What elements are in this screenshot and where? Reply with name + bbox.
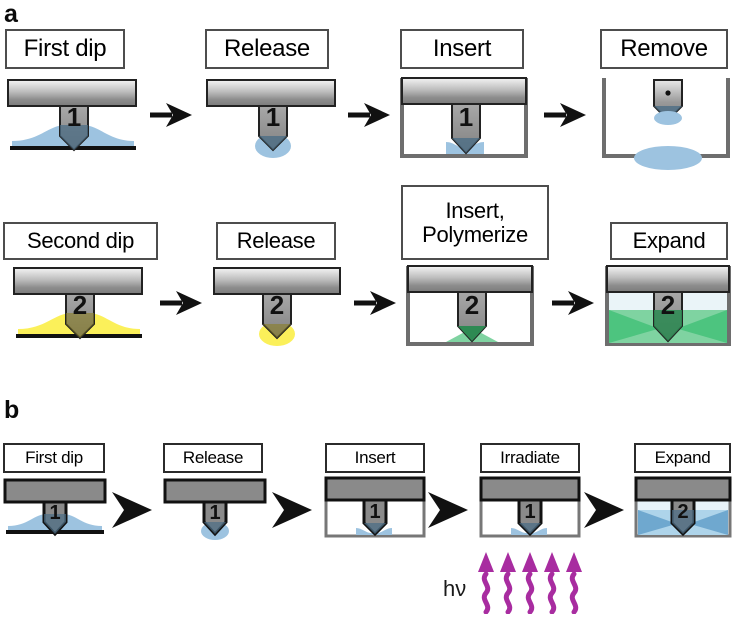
step-label-insert-a1: Insert xyxy=(400,29,524,69)
flow-arrow-a2-1 xyxy=(158,288,204,318)
scene-release-a1: 1 xyxy=(203,78,339,164)
step-label-text: Release xyxy=(237,229,316,252)
photon-energy-label: hν xyxy=(443,578,466,600)
step-label-text: Insert xyxy=(355,449,396,467)
stamp-number: 1 xyxy=(524,501,535,523)
scene-insert-polymerize-a2: 2 xyxy=(402,264,538,352)
stamp-number: 1 xyxy=(67,102,81,132)
step-label-insert-b: Insert xyxy=(325,443,425,473)
step-label-text: Insert, Polymerize xyxy=(422,199,528,245)
stamp-number: 1 xyxy=(49,502,60,524)
step-label-first-dip-a: First dip xyxy=(5,29,125,69)
photon-squiggle-arrow-wave xyxy=(484,574,575,612)
photon-squiggle-arrow-head xyxy=(478,552,582,572)
stamp-head xyxy=(326,478,424,500)
step-label-text: Release xyxy=(224,36,310,61)
flow-arrow-a2-2 xyxy=(352,288,398,318)
stamp-number: 2 xyxy=(677,501,688,523)
step-label-text: Expand xyxy=(655,449,711,467)
stamp-number: 1 xyxy=(459,102,473,132)
tip-marker xyxy=(665,90,670,95)
scene-irradiate-b: 1 xyxy=(477,476,583,546)
stamp-head xyxy=(636,478,730,500)
panel-letter-b: b xyxy=(4,398,19,423)
step-label-text: First dip xyxy=(25,449,83,467)
step-label-text: First dip xyxy=(24,36,107,61)
step-label-insert-polymerize-a2: Insert, Polymerize xyxy=(401,185,549,260)
stamp-number: 1 xyxy=(266,102,280,132)
step-label-text: Remove xyxy=(620,36,708,61)
flow-arrow-b-3 xyxy=(424,490,472,530)
stamp-number: 2 xyxy=(73,290,87,320)
scene-insert-b: 1 xyxy=(322,476,428,546)
step-label-release-a2: Release xyxy=(216,222,336,260)
stamp-number: 1 xyxy=(369,501,380,523)
scene-first-dip-a: 1 xyxy=(4,78,140,164)
liquid-droplet xyxy=(654,111,682,125)
scene-release-a2: 2 xyxy=(212,266,342,352)
stamp-number: 2 xyxy=(465,290,479,320)
flow-arrow-a1-3 xyxy=(542,100,588,130)
scene-release-b: 1 xyxy=(163,478,267,546)
stamp-head xyxy=(408,266,532,292)
scene-second-dip-a: 2 xyxy=(10,266,146,352)
step-label-expand-a2: Expand xyxy=(610,222,728,260)
flow-arrow-b-4 xyxy=(580,490,628,530)
flow-arrow-a1-2 xyxy=(346,100,392,130)
stamp-head xyxy=(5,480,105,502)
stamp-head xyxy=(481,478,579,500)
step-label-text: Insert xyxy=(433,36,491,61)
step-label-text: Second dip xyxy=(27,229,134,252)
stamp-head xyxy=(607,266,729,292)
photon-squiggle-arrow-group xyxy=(478,550,588,619)
flow-arrow-a2-3 xyxy=(550,288,596,318)
scene-expand-a2: 2 xyxy=(601,264,735,352)
step-label-remove-a1: Remove xyxy=(600,29,728,69)
stamp-head xyxy=(402,78,526,104)
step-label-release-b: Release xyxy=(163,443,263,473)
scene-remove-a1 xyxy=(598,76,734,164)
stamp-head xyxy=(165,480,265,502)
stamp-number: 1 xyxy=(209,502,220,524)
scene-insert-a1: 1 xyxy=(396,76,532,164)
flow-arrow-b-2 xyxy=(268,490,316,530)
step-label-irradiate-b: Irradiate xyxy=(480,443,580,473)
scene-first-dip-b: 1 xyxy=(2,478,108,546)
liquid-pool xyxy=(634,146,702,170)
step-label-release-a1: Release xyxy=(205,29,329,69)
step-label-first-dip-b: First dip xyxy=(3,443,105,473)
step-label-second-dip-a: Second dip xyxy=(3,222,158,260)
step-label-text: Irradiate xyxy=(500,449,560,467)
stamp-number: 2 xyxy=(661,290,675,320)
step-label-text: Release xyxy=(183,449,243,467)
flow-arrow-b-1 xyxy=(108,490,156,530)
step-label-expand-b: Expand xyxy=(634,443,731,473)
flow-arrow-a1-1 xyxy=(148,100,194,130)
stamp-number: 2 xyxy=(270,290,284,320)
panel-letter-a: a xyxy=(4,2,18,27)
step-label-text: Expand xyxy=(633,229,706,252)
scene-expand-b: 2 xyxy=(632,476,734,546)
